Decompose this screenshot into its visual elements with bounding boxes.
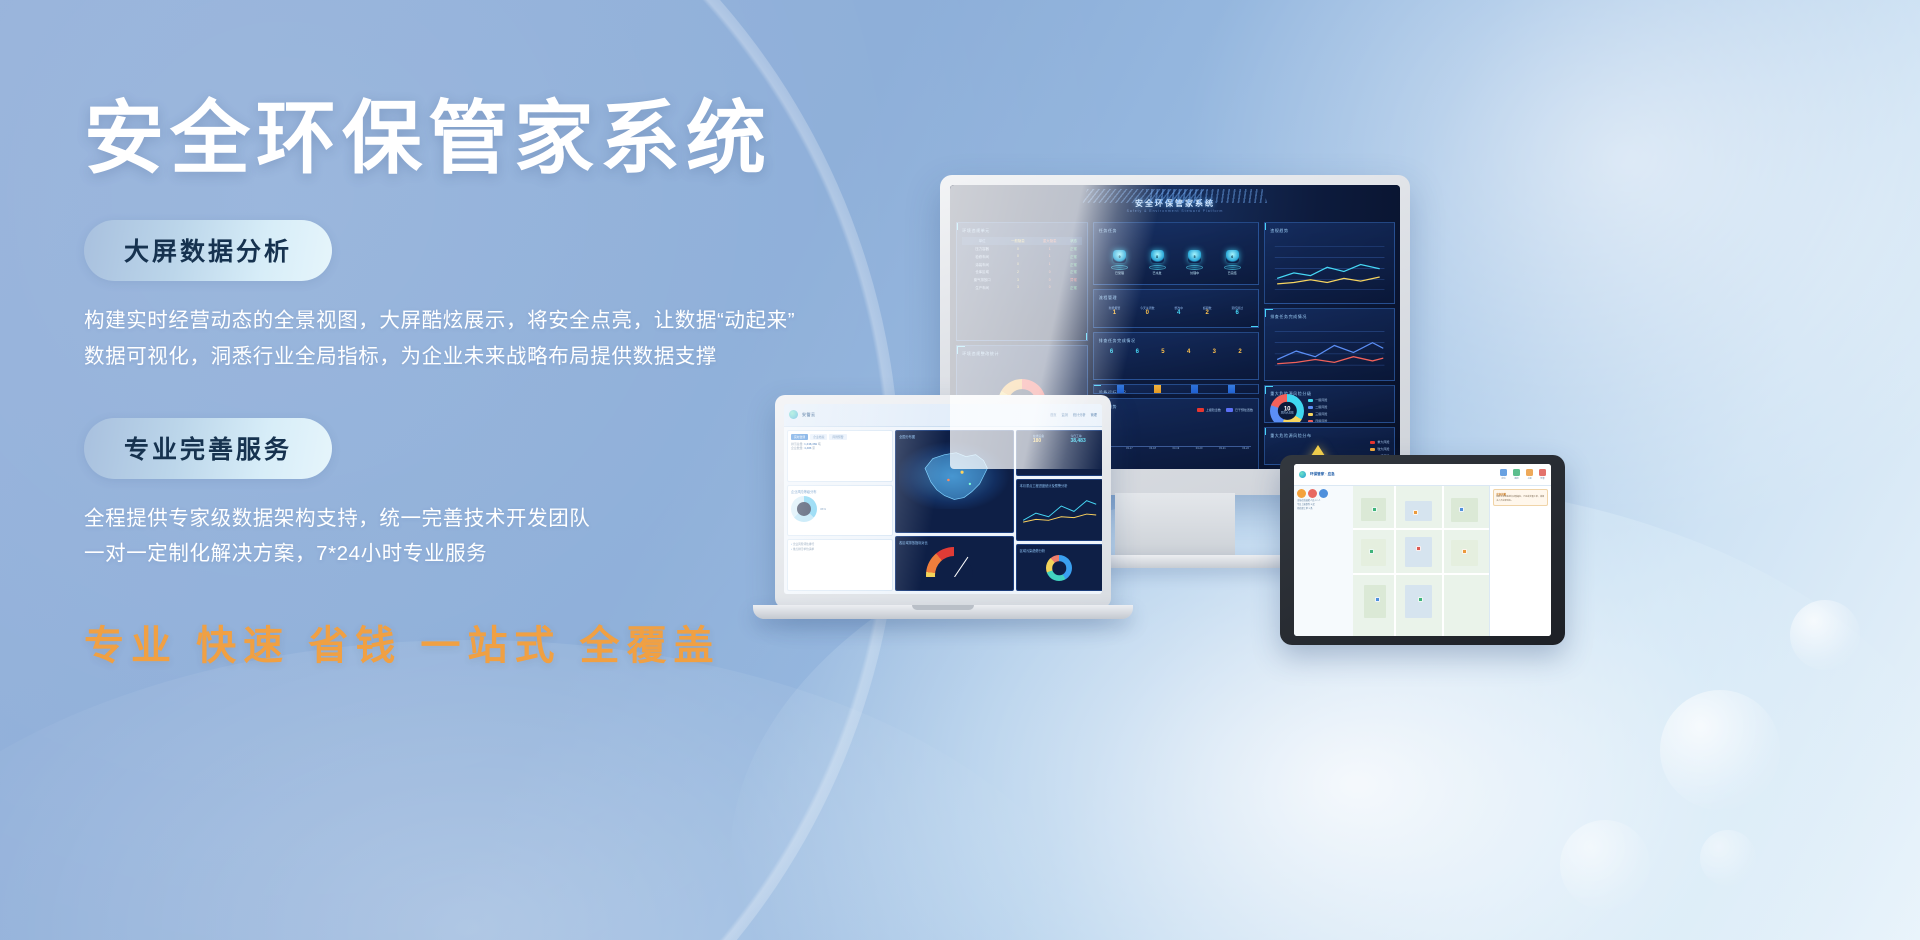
progress-value: 4 — [1187, 349, 1190, 355]
kpi-item: 今日工单 38,483 — [1070, 434, 1085, 444]
cell-status: 正常 — [1066, 268, 1082, 276]
x-tick: 03-19 — [1173, 447, 1180, 450]
node-label: 已派发 — [1149, 271, 1166, 275]
kpi-value: 4 — [1174, 310, 1183, 316]
legend-label: 上报隐患数 — [1206, 408, 1221, 412]
feature-badge-1: 大屏数据分析 — [84, 220, 332, 281]
progress-value: 6 — [1136, 349, 1139, 355]
panel-task-progress: 排查任务完成情况 6 6 5 4 3 2 — [1093, 332, 1259, 381]
page-title: 安全环保管家系统 — [84, 96, 924, 182]
bar-group: 3#装置 — [1186, 384, 1202, 394]
tool-label: 上报 — [1527, 477, 1531, 480]
legend-item: 三级风险 — [1308, 412, 1327, 416]
task-node: 5 处理中 — [1186, 250, 1203, 275]
tool-inspect[interactable]: 巡检 — [1513, 469, 1520, 480]
node-ring-icon — [1111, 265, 1128, 270]
tool-report[interactable]: 上报 — [1526, 469, 1533, 480]
panel-title: 排查任务完成情况 — [1270, 314, 1389, 320]
kpi-value: 1 — [1109, 310, 1121, 316]
panel-risk-level: 重大危险源风险分级 10 风险点总数 — [1264, 385, 1395, 423]
col-major: 重大隐患 — [1034, 237, 1066, 245]
feature-badge-2: 专业完善服务 — [84, 418, 332, 479]
cell-status: 正常 — [1066, 245, 1082, 253]
nav-item[interactable]: 管理 — [1091, 412, 1097, 417]
cell-major: 0 — [1034, 276, 1066, 284]
node-orb-icon: 6 — [1226, 250, 1239, 263]
cell-status: 异常 — [1066, 276, 1082, 284]
legend-item: 已干预处置数 — [1226, 408, 1253, 412]
violation-units-table: 单位 一般隐患 重大隐患 状态 压力容器 0 1 — [962, 237, 1081, 291]
legend-item: 二级风险 — [1308, 405, 1327, 409]
kpi-item: 复核通过6 — [1231, 306, 1243, 316]
card-title: 区域污染趋势分析 — [1020, 548, 1099, 553]
cell-minor: 0 — [1002, 260, 1034, 268]
feature-description-2: 全程提供专家级数据架构支持，统一完善技术开发团队 一对一定制化解决方案，7*24… — [84, 501, 924, 572]
table-row: 废气排放口 3 0 异常 — [962, 276, 1081, 284]
x-tick: 03-22 — [1242, 447, 1249, 450]
task-node-row: 9 已受理 8 已派发 — [1099, 237, 1253, 275]
tablet-toolbar[interactable]: 定位 巡检 上报 — [1500, 469, 1546, 480]
panel-title: 环境违规整改统计 — [962, 351, 1081, 357]
app-logo-icon — [1299, 471, 1306, 478]
tool-label: 告警 — [1540, 477, 1544, 480]
risk-level-legend: 一级风险 二级风险 三级风险 四级风险 — [1308, 398, 1327, 423]
laptop-nav[interactable]: 首页 监测 统计分析 管理 — [1050, 412, 1097, 417]
risk-gauge — [926, 547, 982, 577]
kpi-item: 今天关闭数0 — [1140, 306, 1154, 316]
panel-title: 违规趋势 — [1270, 228, 1389, 234]
node-label: 处理中 — [1186, 271, 1203, 275]
legend-item: 重大风险 — [1370, 440, 1389, 444]
kpi-item: 在线设备 180 — [1033, 434, 1044, 444]
cell-unit: 废气排放口 — [962, 276, 1002, 284]
process-kpi-row: 新增报警1 今天关闭数0 整改中4 超期数2 复核通过6 — [1099, 304, 1253, 316]
tablet-detail-panel: 应急告警 园区东北侧监测点浓度超标，已派发处置工单，请相关人员立即响应。 — [1489, 486, 1551, 636]
card-title: 本月重点工程进度统计及预警分析 — [1020, 483, 1099, 488]
note-item: 待处理工单 3 条 — [1297, 508, 1350, 512]
node-label: 已完结 — [1224, 271, 1241, 275]
pie-center-label: 风险点总数 — [1281, 412, 1294, 415]
site-map[interactable] — [1353, 486, 1489, 636]
feature-1-line-2: 数据可视化，洞悉行业全局指标，为企业未来战略布局提供数据支撑 — [84, 339, 924, 374]
laptop-column-right: 在线设备 180 今日工单 38,483 — [1016, 430, 1102, 591]
cell-major: 0 — [1034, 284, 1066, 292]
kpi-value: 0 — [1140, 310, 1154, 316]
secondary-line-chart — [1270, 323, 1389, 371]
legend-label: 重大风险 — [1377, 440, 1389, 444]
cell-minor: 0 — [1002, 245, 1034, 253]
panel-title: 环境违规单元 — [962, 228, 1081, 234]
panel-gas-monitor: 设备运行情况 1#装置 2#装置 3#装置 A装置 — [1093, 384, 1259, 394]
x-tick: 03-20 — [1196, 447, 1203, 450]
avatar — [1319, 489, 1328, 498]
dashboard-column-right: 违规趋势 — [1264, 222, 1395, 465]
kpi-item: 超期数2 — [1203, 306, 1212, 316]
legend-item: 上报隐患数 — [1197, 408, 1221, 412]
nav-item[interactable]: 监测 — [1062, 412, 1068, 417]
cell-major: 1 — [1034, 245, 1066, 253]
nav-item[interactable]: 统计分析 — [1073, 412, 1086, 417]
report-icon — [1526, 469, 1533, 476]
col-status: 状态 — [1066, 237, 1082, 245]
cell-minor: 3 — [1002, 284, 1034, 292]
cell-status: 正常 — [1066, 252, 1082, 260]
legend-label: 二级风险 — [1315, 405, 1327, 409]
cell-unit: 涂装车间 — [962, 260, 1002, 268]
progress-line-chart — [1020, 490, 1099, 526]
location-icon — [1500, 469, 1507, 476]
bar-group: 1#装置 — [1112, 384, 1128, 394]
feature-1-line-1: 构建实时经营动态的全景视图，大屏酷炫展示，将安全点亮，让数据“动起来” — [84, 303, 924, 338]
promo-banner: 安全环保管家系统 大屏数据分析 构建实时经营动态的全景视图，大屏酷炫展示，将安全… — [0, 0, 1920, 940]
col-unit: 单位 — [962, 237, 1002, 245]
cell-minor: 3 — [1002, 276, 1034, 284]
tablet-app-title: 环保管家 · 应急 — [1310, 472, 1335, 477]
table-row: 仓库区域 2 0 正常 — [962, 268, 1081, 276]
progress-value: 3 — [1213, 349, 1216, 355]
risk-level-pie: 10 风险点总数 — [1270, 394, 1304, 423]
cell-status: 正常 — [1066, 284, 1082, 292]
avatar — [1308, 489, 1317, 498]
node-ring-icon — [1186, 265, 1203, 270]
banner-tagline: 专业 快速 省钱 一站式 全覆盖 — [84, 613, 924, 671]
table-row: 生产车间 3 0 正常 — [962, 284, 1081, 292]
panel-title: 任务任务 — [1099, 228, 1253, 234]
x-tick: 03-21 — [1219, 447, 1226, 450]
tablet-sidebar: 当前在线巡检人员 12 人 今日上报事件 8 起 待处理工单 3 条 — [1294, 486, 1353, 636]
gauge-needle — [954, 556, 968, 576]
card-line: 本月重点工程进度统计及预警分析 — [1016, 479, 1102, 541]
cell-unit: 压力容器 — [962, 245, 1002, 253]
trend-line-chart — [1270, 237, 1389, 292]
tablet-device: 环保管家 · 应急 定位 巡检 — [1280, 455, 1565, 645]
cell-major: 1 — [1034, 260, 1066, 268]
task-progress-row: 6 6 5 4 3 2 — [1099, 347, 1253, 355]
task-node: 6 已完结 — [1224, 250, 1241, 275]
tablet-body: 环保管家 · 应急 定位 巡检 — [1280, 455, 1565, 645]
tool-alert[interactable]: 告警 — [1539, 469, 1546, 480]
legend-item: 一级风险 — [1308, 398, 1327, 402]
kpi-item: 整改中4 — [1174, 306, 1183, 316]
trend-donut — [1046, 555, 1072, 581]
bar-group: 2#装置 — [1149, 384, 1165, 394]
kpi-value: 2 — [1203, 310, 1212, 316]
progress-value: 6 — [1110, 349, 1113, 355]
alert-icon — [1539, 469, 1546, 476]
panel-title: 排查任务完成情况 — [1099, 338, 1253, 344]
gauge-arc — [926, 547, 982, 577]
pie-center: 10 风险点总数 — [1281, 406, 1294, 415]
bar-group: A装置 — [1223, 384, 1239, 394]
table-header-row: 单位 一般隐患 重大隐患 状态 — [962, 237, 1081, 245]
tablet-screen: 环保管家 · 应急 定位 巡检 — [1294, 464, 1551, 636]
alert-card-desc: 园区东北侧监测点浓度超标，已派发处置工单，请相关人员立即响应。 — [1496, 496, 1545, 503]
kpi-item: 新增报警1 — [1109, 306, 1121, 316]
tablet-app-header: 环保管家 · 应急 定位 巡检 — [1294, 464, 1551, 486]
cell-unit: 检修车间 — [962, 252, 1002, 260]
node-label: 已受理 — [1111, 271, 1128, 275]
table-row: 压力容器 0 1 正常 — [962, 245, 1081, 253]
node-ring-icon — [1149, 265, 1166, 270]
node-ring-icon — [1224, 265, 1241, 270]
legend-item: 较大风险 — [1370, 447, 1389, 451]
legend-label: 一级风险 — [1315, 398, 1327, 402]
legend-label: 较大风险 — [1377, 447, 1389, 451]
nav-item[interactable]: 首页 — [1050, 412, 1056, 417]
cell-status: 正常 — [1066, 260, 1082, 268]
avatar — [1297, 489, 1306, 498]
panel-trend-lines: 违规趋势 — [1264, 222, 1395, 305]
legend-label: 三级风险 — [1315, 412, 1327, 416]
table-row: 涂装车间 0 1 正常 — [962, 260, 1081, 268]
inspection-icon — [1513, 469, 1520, 476]
panel-task-status: 任务任务 9 已受理 8 — [1093, 222, 1259, 285]
tablet-app-body: 当前在线巡检人员 12 人 今日上报事件 8 起 待处理工单 3 条 — [1294, 486, 1551, 636]
dashboard-header: 安全环保管家系统 Safety & Environment Steward Pl… — [950, 185, 1400, 222]
cell-major: 0 — [1034, 268, 1066, 276]
cell-unit: 仓库区域 — [962, 268, 1002, 276]
cell-major: 1 — [1034, 252, 1066, 260]
panel-process-mgmt: 流程管理 新增报警1 今天关闭数0 整改中4 超期数2 复核通过6 — [1093, 289, 1259, 328]
kpi-value: 6 — [1231, 310, 1243, 316]
cell-minor: 2 — [1002, 268, 1034, 276]
tool-locate[interactable]: 定位 — [1500, 469, 1507, 480]
banner-copy: 安全环保管家系统 大屏数据分析 构建实时经营动态的全景视图，大屏酷炫展示，将安全… — [84, 96, 924, 671]
alert-card: 应急告警 园区东北侧监测点浓度超标，已派发处置工单，请相关人员立即响应。 — [1493, 489, 1548, 506]
feature-2-line-2: 一对一定制化解决方案，7*24小时专业服务 — [84, 536, 924, 571]
feature-2-line-1: 全程提供专家级数据架构支持，统一完善技术开发团队 — [84, 501, 924, 536]
sidebar-notes: 当前在线巡检人员 12 人 今日上报事件 8 起 待处理工单 3 条 — [1297, 500, 1350, 511]
node-orb-icon: 8 — [1151, 250, 1164, 263]
kpi-value: 38,483 — [1070, 438, 1085, 444]
node-orb-icon: 9 — [1113, 250, 1126, 263]
table-row: 检修车间 0 1 正常 — [962, 252, 1081, 260]
task-node: 9 已受理 — [1111, 250, 1128, 275]
feature-description-1: 构建实时经营动态的全景视图，大屏酷炫展示，将安全点亮，让数据“动起来” 数据可视… — [84, 303, 924, 374]
progress-value: 5 — [1161, 349, 1164, 355]
card-donut: 区域污染趋势分析 — [1016, 544, 1102, 591]
col-minor: 一般隐患 — [1002, 237, 1034, 245]
x-tick: 03-18 — [1149, 447, 1156, 450]
panel-secondary-trend: 排查任务完成情况 — [1264, 308, 1395, 381]
header-hatch-right-icon — [1146, 189, 1268, 203]
dashboard-subtitle: Safety & Environment Steward Platform — [1127, 209, 1224, 213]
tablet-app: 环保管家 · 应急 定位 巡检 — [1294, 464, 1551, 636]
cell-minor: 0 — [1002, 252, 1034, 260]
panel-violation-units: 环境违规单元 单位 一般隐患 重大隐患 状态 — [956, 222, 1087, 341]
cell-unit: 生产车间 — [962, 284, 1002, 292]
tool-label: 巡检 — [1514, 477, 1518, 480]
monitor-stand — [1115, 493, 1235, 559]
tool-label: 定位 — [1501, 477, 1505, 480]
progress-value: 2 — [1238, 349, 1241, 355]
card-kpi: 在线设备 180 今日工单 38,483 — [1016, 430, 1102, 477]
kpi-value: 180 — [1033, 438, 1044, 444]
panel-title: 流程管理 — [1099, 295, 1253, 301]
legend-label: 已干预处置数 — [1235, 408, 1253, 412]
task-node: 8 已派发 — [1149, 250, 1166, 275]
node-orb-icon: 5 — [1188, 250, 1201, 263]
avatar-group — [1297, 489, 1350, 498]
